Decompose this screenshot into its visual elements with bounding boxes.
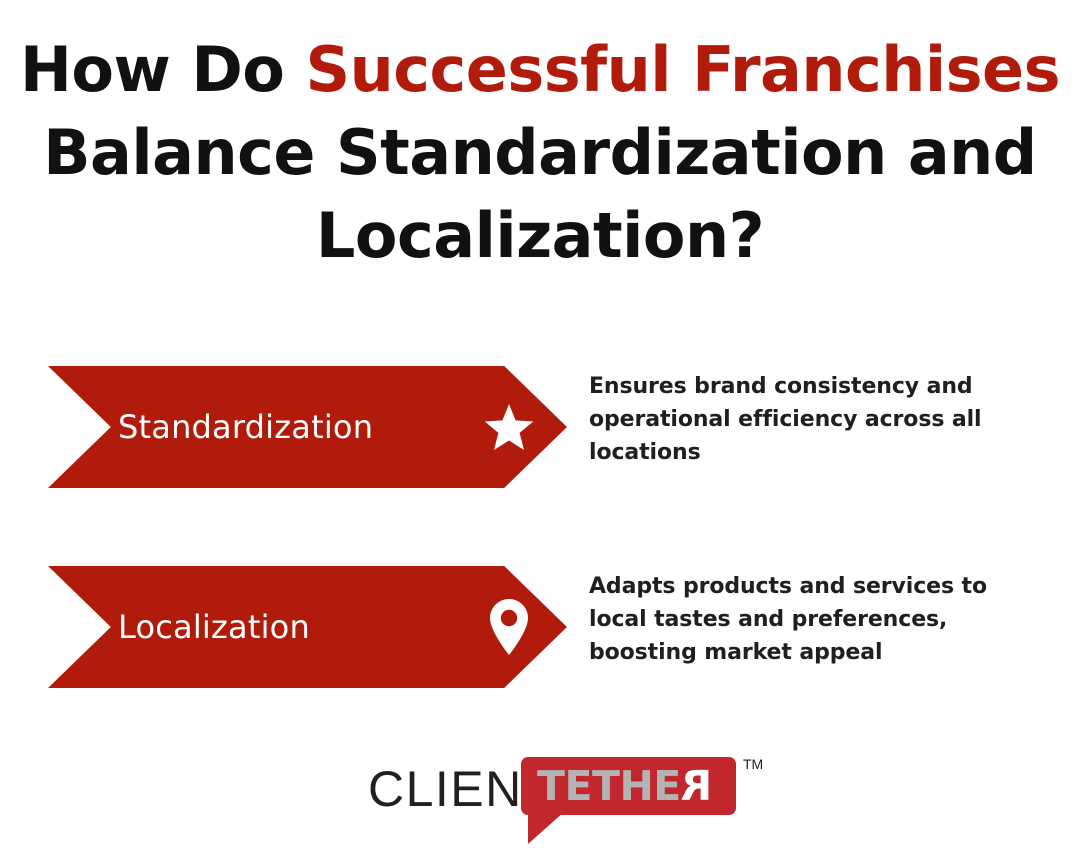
description-line: Adapts products and services to (589, 570, 1021, 603)
chevron-banner-standardization[interactable]: Standardization (48, 366, 567, 488)
title-line-1-black: How Do (20, 33, 306, 106)
title-line-1-accent: Successful Franchises (305, 33, 1060, 106)
trademark-symbol: TM (743, 756, 763, 772)
page-title: How Do Successful Franchises Balance Sta… (0, 28, 1080, 277)
description-line: locations (589, 436, 1021, 469)
banner-label-localization: Localization (118, 608, 310, 646)
star-icon (483, 399, 535, 455)
description-line: operational efficiency across all (589, 403, 1021, 436)
title-line-1: How Do Successful Franchises (0, 28, 1080, 111)
map-pin-icon (483, 599, 535, 655)
title-line-3: Localization? (0, 194, 1080, 277)
description-standardization: Ensures brand consistency and operationa… (589, 370, 1021, 469)
logo-tether-text: TETHE (537, 762, 681, 810)
speech-bubble-tail-icon (528, 812, 564, 844)
description-line: Ensures brand consistency and (589, 370, 1021, 403)
chevron-banner-localization[interactable]: Localization (48, 566, 567, 688)
banner-label-wrap: Localization (118, 566, 538, 688)
brand-logo[interactable]: CLIENT TETHER TM (368, 752, 768, 838)
content-row-standardization: Standardization Ensures brand consistenc… (0, 366, 1080, 488)
description-line: local tastes and preferences, (589, 603, 1021, 636)
banner-label-standardization: Standardization (118, 408, 373, 446)
logo-reversed-r: R (681, 764, 712, 808)
content-row-localization: Localization Adapts products and service… (0, 566, 1080, 688)
description-line: boosting market appeal (589, 636, 1021, 669)
title-line-2: Balance Standardization and (0, 111, 1080, 194)
description-localization: Adapts products and services to local ta… (589, 570, 1021, 669)
banner-label-wrap: Standardization (118, 366, 538, 488)
logo-wordmark-tether: TETHER (537, 764, 712, 808)
